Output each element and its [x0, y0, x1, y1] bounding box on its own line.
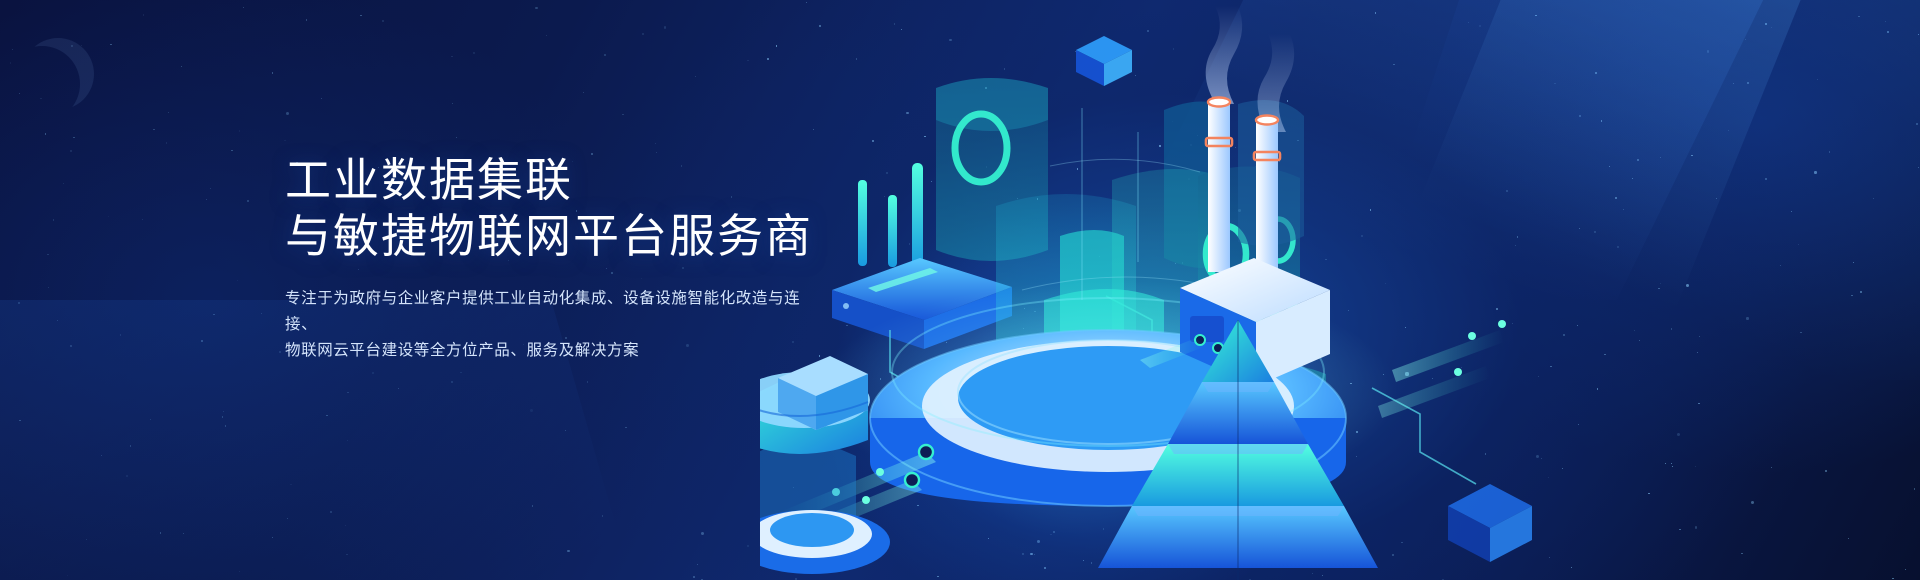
hero-headline-line-1: 工业数据集联	[285, 152, 845, 208]
data-beam-right	[1378, 320, 1506, 418]
hero-headline-line-2: 与敏捷物联网平台服务商	[285, 208, 845, 264]
hero-text-block: 工业数据集联 与敏捷物联网平台服务商 专注于为政府与企业客户提供工业自动化集成、…	[285, 152, 845, 364]
hero-subtitle: 专注于为政府与企业客户提供工业自动化集成、设备设施智能化改造与连接、 物联网云平…	[285, 286, 805, 364]
isometric-illustration	[760, 0, 1920, 580]
hero-subtitle-line-1: 专注于为政府与企业客户提供工业自动化集成、设备设施智能化改造与连接、	[285, 286, 805, 338]
hero-banner: 工业数据集联 与敏捷物联网平台服务商 专注于为政府与企业客户提供工业自动化集成、…	[0, 0, 1920, 580]
small-ring-platform	[760, 510, 890, 574]
crescent-moon-icon	[22, 38, 94, 110]
hero-subtitle-line-2: 物联网云平台建设等全方位产品、服务及解决方案	[285, 338, 805, 364]
